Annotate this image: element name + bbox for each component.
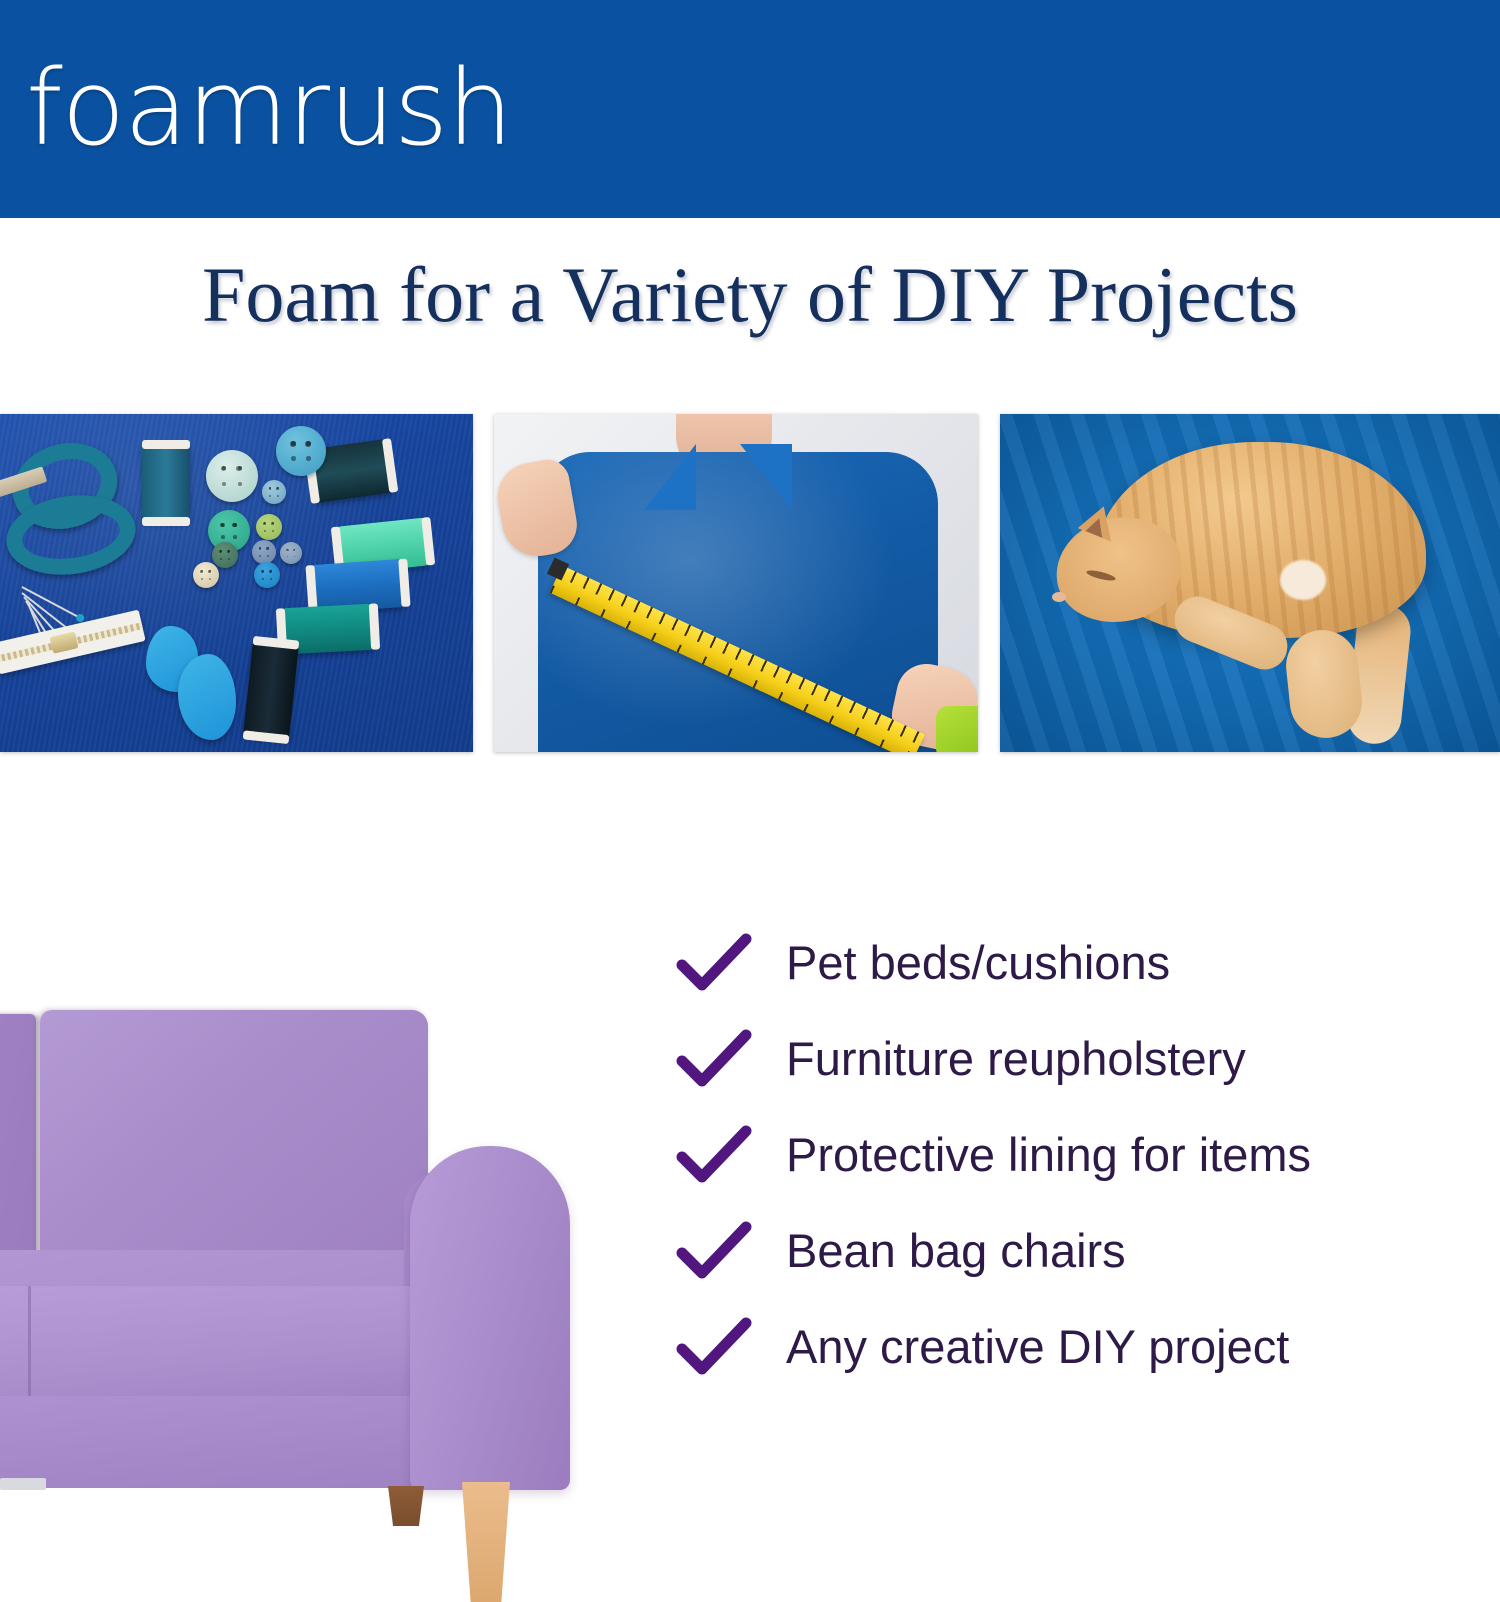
sofa-leg-dark — [388, 1486, 424, 1526]
benefit-label: Protective lining for items — [756, 1129, 1311, 1181]
sofa-leg-light — [462, 1482, 510, 1602]
brand-banner: foamrush — [0, 0, 1500, 218]
benefit-label: Bean bag chairs — [756, 1225, 1126, 1277]
button — [256, 514, 282, 540]
zipper-slider — [49, 631, 78, 653]
benefit-item-bean-bag-chairs: Bean bag chairs — [676, 1203, 1466, 1299]
thread-spool — [142, 444, 190, 522]
tape-measure-case — [936, 706, 978, 752]
sewing-supplies-photo — [0, 414, 473, 752]
benefit-item-protective-lining: Protective lining for items — [676, 1107, 1466, 1203]
button-holes — [263, 521, 276, 534]
sofa-rolled-arm — [410, 1146, 570, 1490]
sofa-back-cushion-right — [40, 1010, 428, 1282]
button — [254, 562, 280, 588]
button — [252, 540, 276, 564]
checkmark-icon — [676, 1317, 756, 1377]
spool-cap — [142, 440, 190, 449]
sofa-foot-plate — [0, 1478, 46, 1490]
checkmark-icon — [676, 1125, 756, 1185]
button — [262, 480, 286, 504]
button-holes — [258, 546, 270, 558]
sofa-seat-divider — [28, 1286, 31, 1398]
sofa-seat-cushion — [0, 1286, 442, 1398]
benefit-item-reupholstery: Furniture reupholstery — [676, 1011, 1466, 1107]
button-holes — [200, 569, 213, 582]
cat-nose — [1052, 592, 1066, 602]
checkmark-icon — [676, 933, 756, 993]
spool-cap — [142, 517, 190, 526]
checkmark-icon — [676, 1029, 756, 1089]
button — [276, 426, 326, 476]
button — [206, 450, 258, 502]
brand-logo: foamrush — [26, 56, 512, 160]
benefit-label: Pet beds/cushions — [756, 937, 1170, 989]
sofa-base-skirt — [0, 1396, 442, 1488]
shirt-collar-left — [644, 444, 696, 510]
cat-belly-patch — [1280, 560, 1326, 600]
button-holes — [219, 521, 239, 541]
sofa-back-cushion-left — [0, 1014, 36, 1276]
benefit-label: Furniture reupholstery — [756, 1033, 1246, 1085]
button — [280, 542, 302, 564]
photo-strip — [0, 414, 1500, 752]
cat-on-beanbag-photo — [1000, 414, 1500, 752]
button-holes — [261, 569, 274, 582]
benefit-label: Any creative DIY project — [756, 1321, 1289, 1373]
shirt-collar-right — [740, 444, 792, 510]
button-holes — [219, 549, 232, 562]
page-title: Foam for a Variety of DIY Projects — [0, 252, 1500, 338]
button — [193, 562, 219, 588]
purple-sofa-illustration — [0, 1000, 580, 1500]
button — [212, 542, 238, 568]
checkmark-icon — [676, 1221, 756, 1281]
button-holes — [220, 464, 245, 489]
benefit-item-pet-beds: Pet beds/cushions — [676, 915, 1466, 1011]
button-holes — [286, 548, 297, 559]
tape-measure-photo — [494, 414, 978, 752]
benefit-item-any-diy-project: Any creative DIY project — [676, 1299, 1466, 1395]
button-holes — [268, 486, 280, 498]
button-holes — [289, 439, 313, 463]
benefits-checklist: Pet beds/cushions Furniture reupholstery… — [676, 915, 1466, 1395]
